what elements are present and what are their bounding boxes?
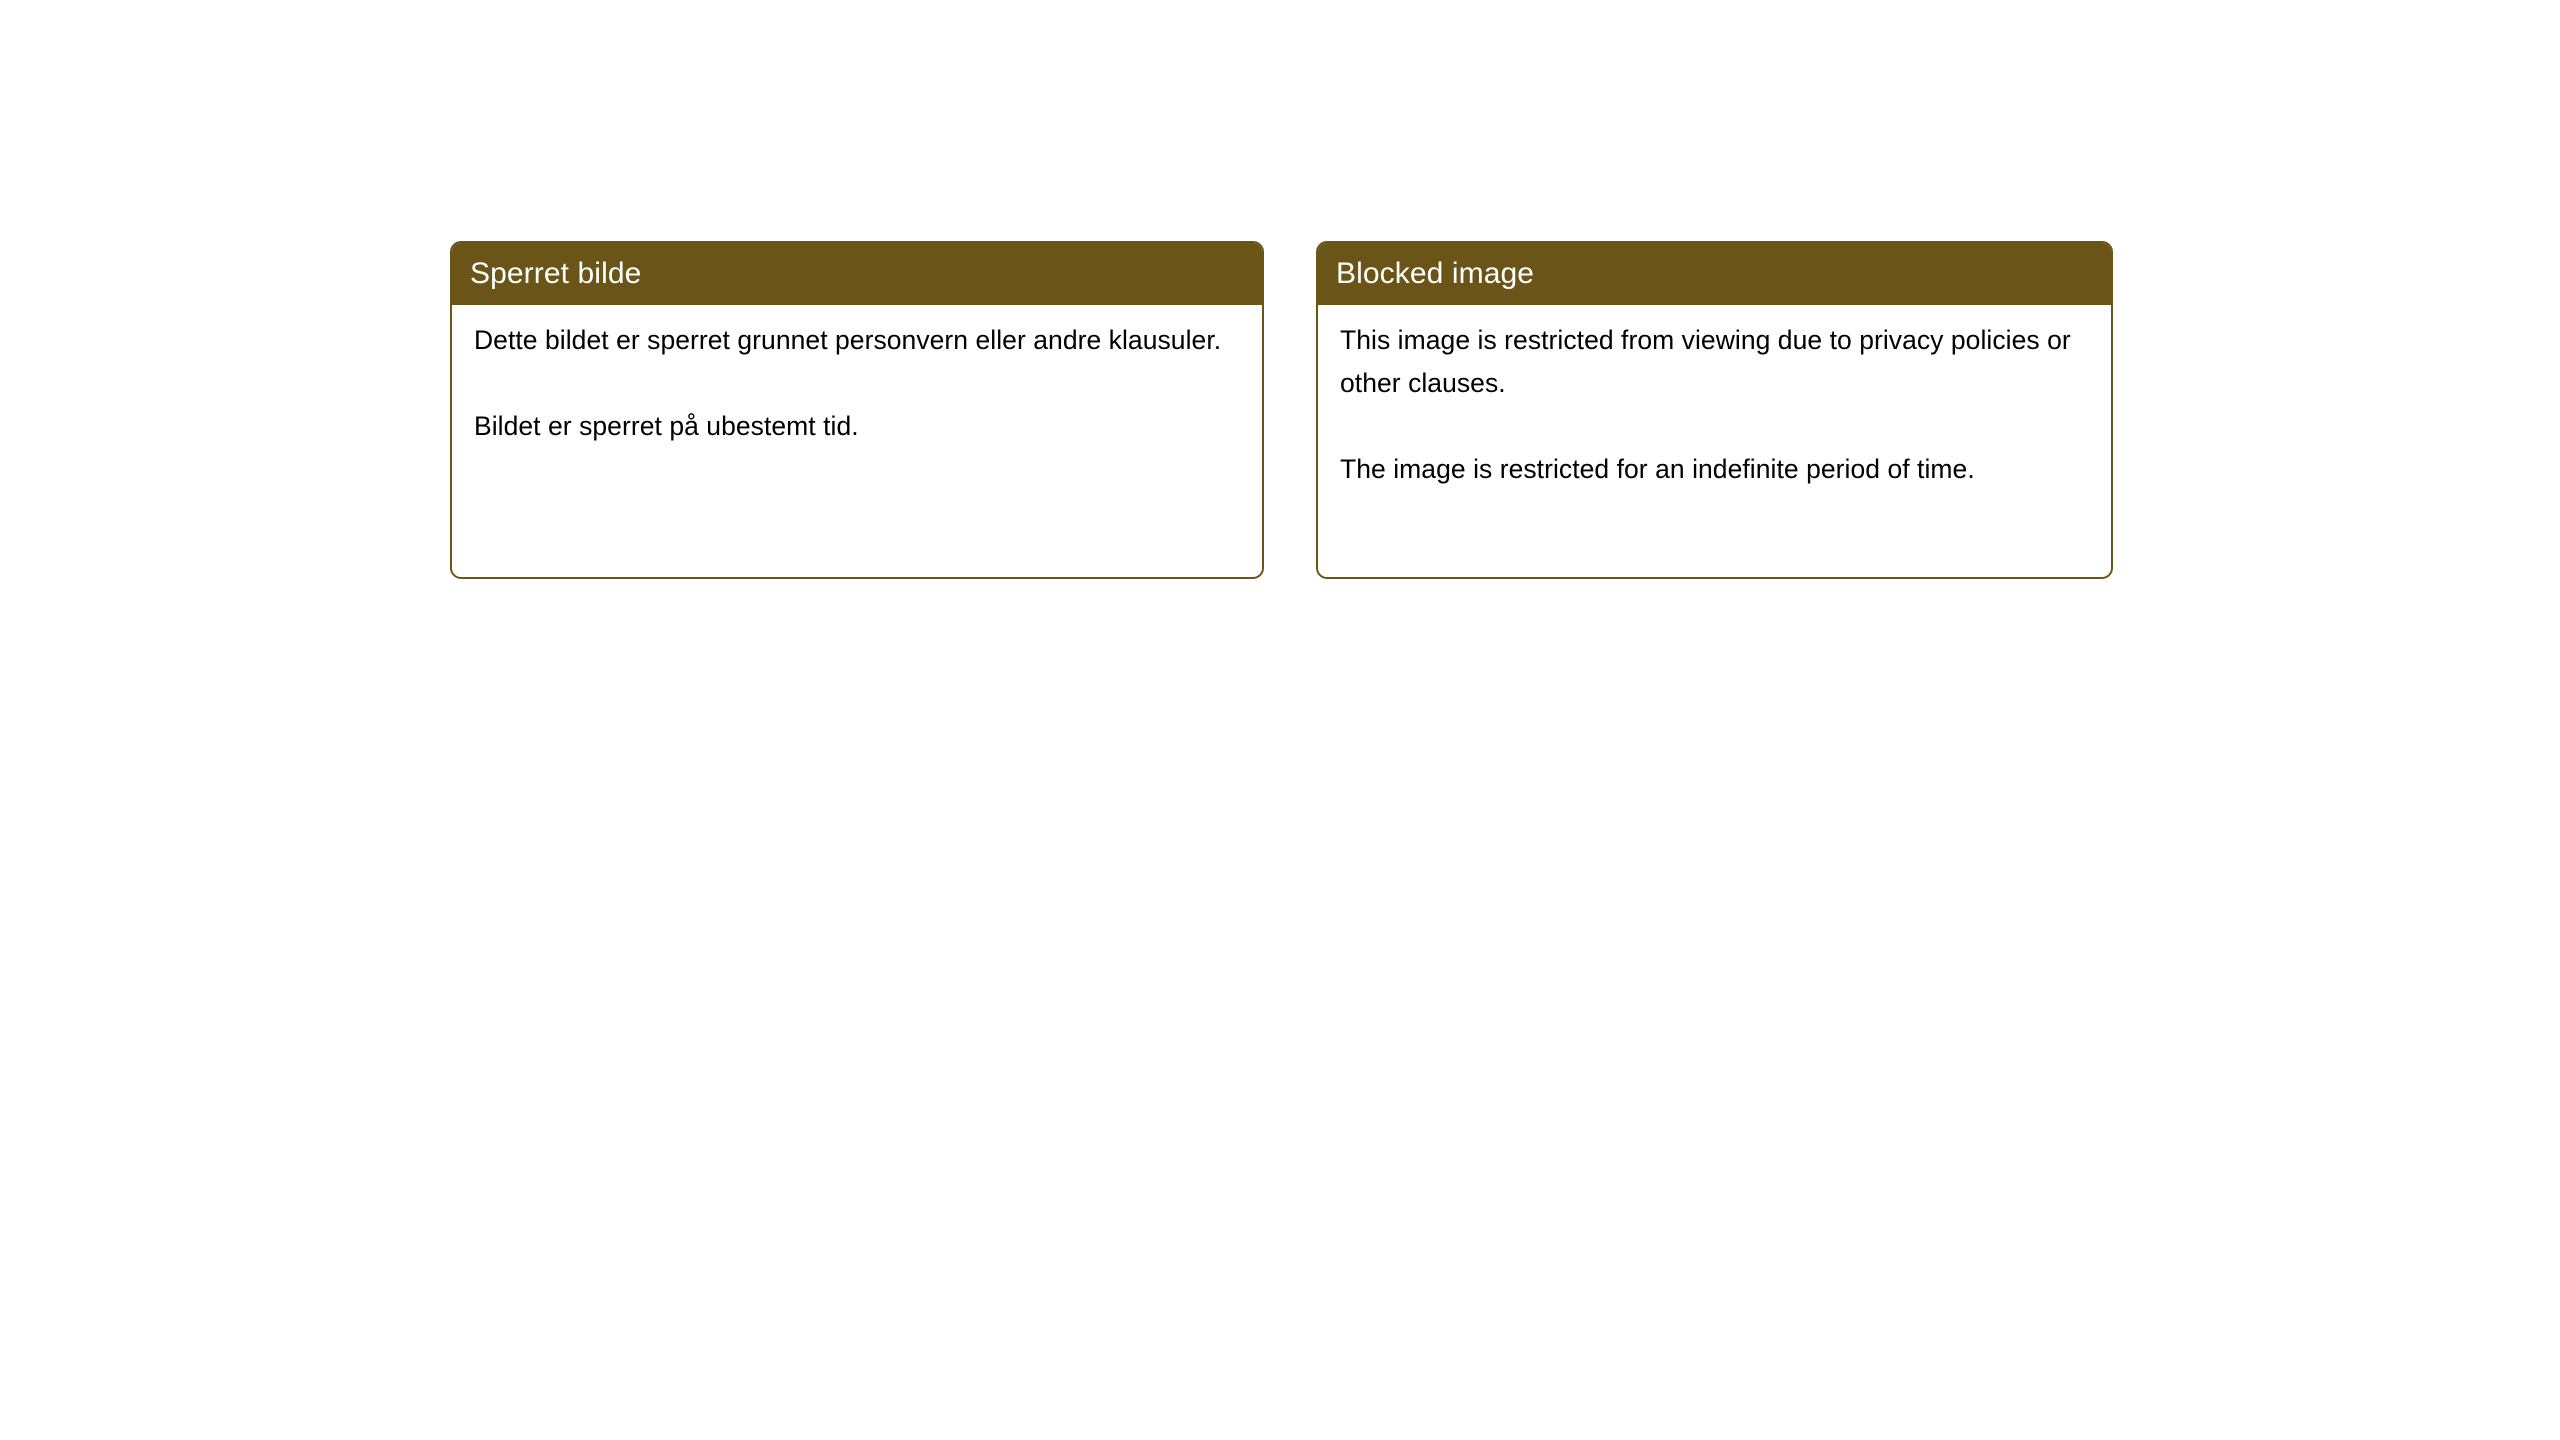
page-canvas: Sperret bilde Dette bildet er sperret gr… [0,0,2560,1440]
notice-paragraph-1-norwegian: Dette bildet er sperret grunnet personve… [474,319,1240,362]
card-body-norwegian: Dette bildet er sperret grunnet personve… [452,305,1262,448]
notice-paragraph-1-english: This image is restricted from viewing du… [1340,319,2089,405]
card-header-norwegian: Sperret bilde [450,241,1264,305]
card-title-english: Blocked image [1336,259,1534,289]
blocked-image-notice-norwegian: Sperret bilde Dette bildet er sperret gr… [450,241,1264,579]
blocked-image-notice-english: Blocked image This image is restricted f… [1316,241,2113,579]
notice-paragraph-2-english: The image is restricted for an indefinit… [1340,448,2089,491]
card-body-english: This image is restricted from viewing du… [1318,305,2111,491]
card-header-english: Blocked image [1316,241,2113,305]
card-title-norwegian: Sperret bilde [470,259,641,289]
notice-paragraph-2-norwegian: Bildet er sperret på ubestemt tid. [474,405,1240,448]
